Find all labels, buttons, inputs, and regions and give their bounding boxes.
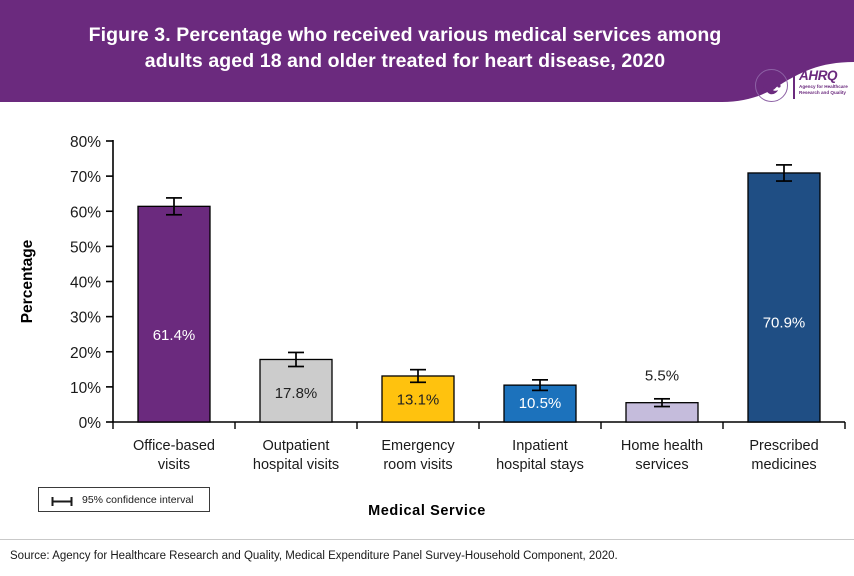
x-axis-category-label-5: Home health [621, 438, 703, 454]
bar-value-label-2: 17.8% [275, 385, 318, 402]
ahrq-logo: AHRQ Agency for Healthcare Research and … [755, 68, 847, 104]
x-axis-category-label-6: medicines [751, 457, 816, 473]
ahrq-tagline-line-2: Research and Quality [799, 90, 846, 95]
y-axis-tick-label: 0% [79, 415, 102, 432]
source-note: Source: Agency for Healthcare Research a… [10, 550, 618, 562]
chart-container: 0%10%20%30%40%50%60%70%80%Percentage61.4… [0, 110, 854, 530]
logo-divider [793, 71, 795, 99]
x-axis-category-label-4: hospital stays [496, 457, 584, 473]
bar-6 [748, 173, 820, 422]
bar-value-label-1: 61.4% [153, 327, 196, 344]
bar-value-label-5: 5.5% [645, 368, 679, 385]
ahrq-wordmark: AHRQ [799, 69, 837, 83]
y-axis-tick-label: 80% [70, 134, 101, 151]
page-title: Figure 3. Percentage who received variou… [40, 22, 770, 74]
hhs-eagle-icon [755, 69, 788, 102]
bar-value-label-4: 10.5% [519, 395, 562, 412]
x-axis-category-label-2: hospital visits [253, 457, 339, 473]
ahrq-tagline-line-1: Agency for Healthcare [799, 84, 848, 89]
x-axis-category-label-5: services [635, 457, 688, 473]
x-axis-title: Medical Service [0, 503, 854, 519]
eagle-glyph-icon [756, 70, 787, 101]
x-axis-category-label-6: Prescribed [749, 438, 818, 454]
x-axis-category-label-1: Office-based [133, 438, 215, 454]
bar-chart: 0%10%20%30%40%50%60%70%80%Percentage61.4… [0, 110, 854, 530]
y-axis-tick-label: 40% [70, 275, 101, 292]
bar-value-label-3: 13.1% [397, 392, 440, 409]
y-axis-tick-label: 30% [70, 310, 101, 327]
x-axis-category-label-2: Outpatient [263, 438, 330, 454]
x-axis-category-label-1: visits [158, 457, 190, 473]
page-title-line-2: adults aged 18 and older treated for hea… [40, 48, 770, 74]
page-title-line-1: Figure 3. Percentage who received variou… [89, 24, 722, 46]
page-header: Figure 3. Percentage who received variou… [0, 0, 854, 110]
x-axis-category-label-3: room visits [383, 457, 452, 473]
y-axis-tick-label: 20% [70, 345, 101, 362]
y-axis-tick-label: 60% [70, 204, 101, 221]
y-axis-title: Percentage [19, 239, 36, 323]
y-axis-tick-label: 10% [70, 380, 101, 397]
x-axis-category-label-4: Inpatient [512, 438, 568, 454]
y-axis-tick-label: 50% [70, 239, 101, 256]
bar-value-label-6: 70.9% [763, 314, 806, 331]
footer-divider [0, 539, 854, 540]
bar-1 [138, 206, 210, 422]
ahrq-tagline: Agency for Healthcare Research and Quali… [799, 84, 849, 96]
y-axis-tick-label: 70% [70, 169, 101, 186]
x-axis-category-label-3: Emergency [381, 438, 455, 454]
